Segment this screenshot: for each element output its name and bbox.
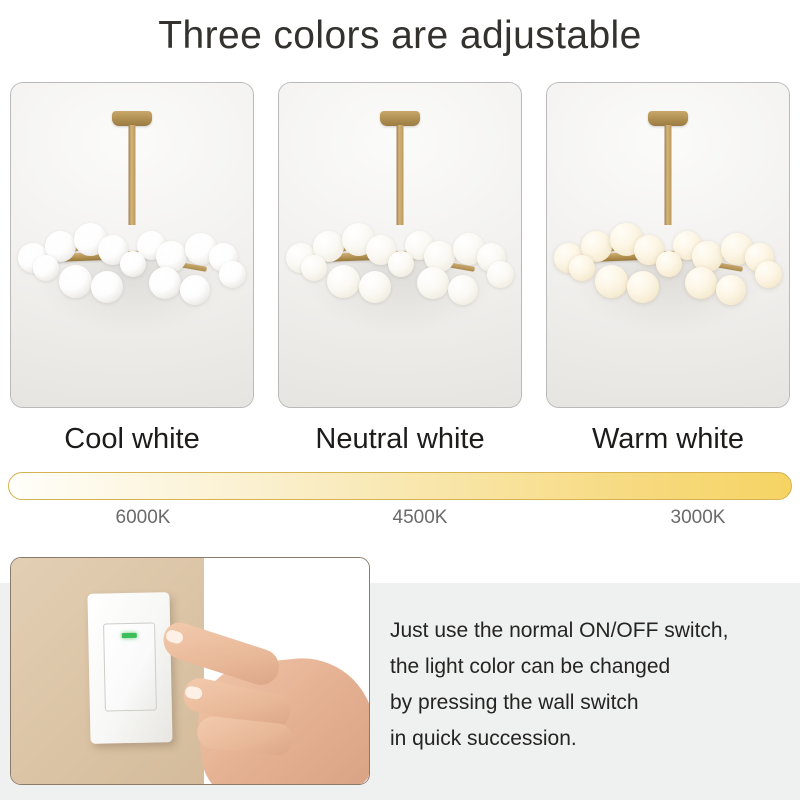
instruction-line-2: the light color can be changed [390,649,790,685]
color-mode-panels [10,82,790,408]
chandelier-cool-white-icon [11,83,253,407]
down-rod [397,125,404,225]
instruction-line-3: by pressing the wall switch [390,685,790,721]
page-title: Three colors are adjustable [0,8,800,64]
globe [33,255,59,281]
ceiling-canopy [380,111,420,126]
kelvin-value-3000k: 3000K [671,505,726,531]
globe [417,267,449,299]
globe [716,275,746,305]
globe [656,251,682,277]
panel-neutral-white[interactable] [278,82,522,408]
fingernail [184,685,203,700]
label-warm-white: Warm white [546,418,790,460]
globe [91,271,123,303]
globe [627,271,659,303]
instruction-line-4: in quick succession. [390,721,790,757]
instruction-line-1: Just use the normal ON/OFF switch, [390,613,790,649]
label-cool-white: Cool white [10,418,254,460]
globe [301,255,327,281]
panel-warm-white[interactable] [546,82,790,408]
globe [448,275,478,305]
globe [685,267,717,299]
rocker-switch [103,622,157,711]
fingernail [165,628,185,645]
globe [149,267,181,299]
down-rod [129,125,136,225]
globe [595,265,628,298]
globe [359,271,391,303]
kelvin-value-6000k: 6000K [116,505,171,531]
globe [180,275,210,305]
color-temperature-bar[interactable] [8,472,792,500]
switch-plate [87,592,172,744]
chandelier-warm-white-icon [547,83,789,407]
ceiling-canopy [648,111,688,126]
globe [120,251,146,277]
kelvin-scale: 6000K 4500K 3000K [8,505,792,531]
wall-switch-photo[interactable] [10,557,370,785]
label-neutral-white: Neutral white [278,418,522,460]
status-led-icon [122,633,137,638]
panel-cool-white[interactable] [10,82,254,408]
globe [388,251,414,277]
down-rod [665,125,672,225]
globe [569,255,595,281]
globe [327,265,360,298]
globe [219,261,246,288]
chandelier-neutral-white-icon [279,83,521,407]
hand-illustration [161,624,370,785]
globe [755,261,782,288]
color-mode-labels: Cool white Neutral white Warm white [10,418,790,460]
globe [487,261,514,288]
ceiling-canopy [112,111,152,126]
instruction-text: Just use the normal ON/OFF switch, the l… [390,613,790,757]
globe [59,265,92,298]
kelvin-value-4500k: 4500K [393,505,448,531]
